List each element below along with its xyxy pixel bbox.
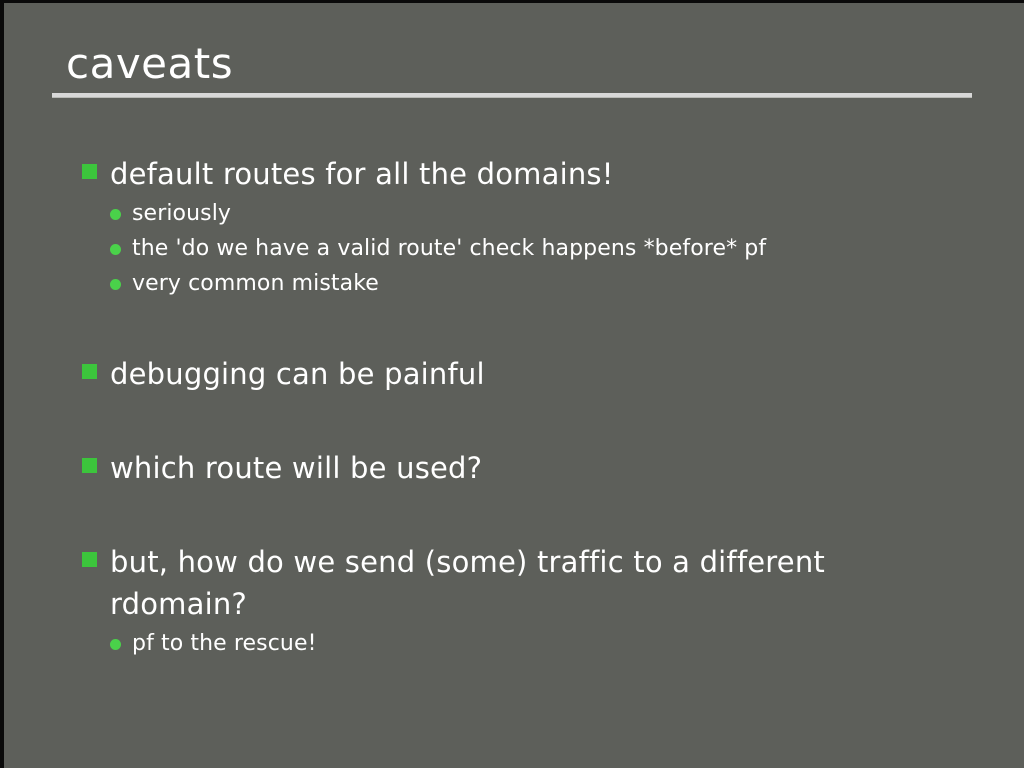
square-bullet-icon	[82, 552, 97, 567]
bullet-group: default routes for all the domains! seri…	[82, 153, 982, 301]
bullet-level1-label: which route will be used?	[110, 447, 900, 489]
circle-bullet-icon	[110, 279, 121, 290]
circle-bullet-icon	[110, 209, 121, 220]
presentation-slide: caveats default routes for all the domai…	[0, 0, 1024, 768]
title-block: caveats	[52, 39, 976, 98]
bullet-item-level1: debugging can be painful	[82, 353, 982, 395]
bullet-level2-label: pf to the rescue!	[132, 627, 982, 661]
spacer	[82, 497, 982, 541]
circle-bullet-icon	[110, 244, 121, 255]
bullet-item-level1: default routes for all the domains!	[82, 153, 982, 195]
bullet-item-level1: which route will be used?	[82, 447, 982, 489]
page-title: caveats	[52, 39, 976, 89]
title-divider	[52, 93, 972, 98]
spacer	[82, 309, 982, 353]
square-bullet-icon	[82, 364, 97, 379]
bullet-group: but, how do we send (some) traffic to a …	[82, 541, 982, 661]
bullet-level1-label: debugging can be painful	[110, 353, 900, 395]
sub-bullet-list: seriously the 'do we have a valid route'…	[82, 197, 982, 301]
bullet-group: which route will be used?	[82, 447, 982, 489]
bullet-level1-label: but, how do we send (some) traffic to a …	[110, 541, 900, 625]
square-bullet-icon	[82, 458, 97, 473]
bullet-item-level2: seriously	[82, 197, 982, 231]
square-bullet-icon	[82, 164, 97, 179]
bullet-item-level2: pf to the rescue!	[82, 627, 982, 661]
bullet-level2-label: the 'do we have a valid route' check hap…	[132, 232, 982, 266]
bullet-group: debugging can be painful	[82, 353, 982, 395]
bullet-level2-label: very common mistake	[132, 267, 982, 301]
spacer	[82, 403, 982, 447]
bullet-item-level2: the 'do we have a valid route' check hap…	[82, 232, 982, 266]
bullet-level2-label: seriously	[132, 197, 982, 231]
bullet-item-level1: but, how do we send (some) traffic to a …	[82, 541, 982, 625]
bullet-item-level2: very common mistake	[82, 267, 982, 301]
sub-bullet-list: pf to the rescue!	[82, 627, 982, 661]
bullet-level1-label: default routes for all the domains!	[110, 153, 900, 195]
slide-body: default routes for all the domains! seri…	[82, 153, 982, 669]
circle-bullet-icon	[110, 639, 121, 650]
